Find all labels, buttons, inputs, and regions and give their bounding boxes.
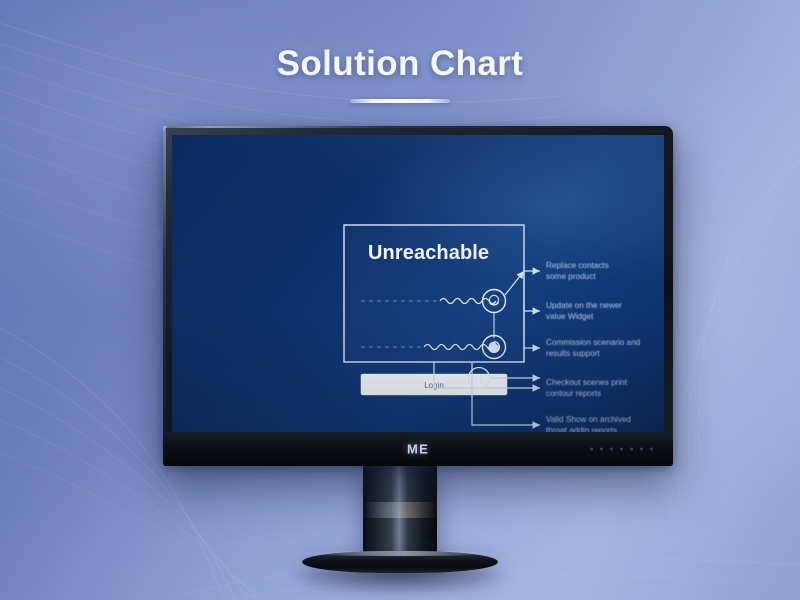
- stand-reflection: [290, 571, 510, 597]
- osd-button[interactable]: [620, 448, 623, 451]
- page-header: Solution Chart: [0, 44, 800, 103]
- osd-button[interactable]: [590, 448, 593, 451]
- annotation-5: Valid Show on archived throat addin repo…: [546, 415, 631, 432]
- osd-button[interactable]: [600, 448, 603, 451]
- svg-text:Valid Show on archived: Valid Show on archived: [546, 415, 631, 424]
- solution-diagram: Unreachable: [172, 135, 664, 432]
- svg-text:Commission scenario and: Commission scenario and: [546, 338, 641, 347]
- page-title: Solution Chart: [0, 44, 800, 84]
- monitor: Unreachable: [163, 126, 673, 466]
- svg-text:Replace contacts: Replace contacts: [546, 261, 609, 270]
- panel-heading: Unreachable: [368, 242, 489, 264]
- brand-logo: ME: [407, 442, 429, 457]
- osd-button[interactable]: [640, 448, 643, 451]
- svg-text:contour reports: contour reports: [546, 389, 601, 398]
- title-underline-rule: [350, 99, 450, 103]
- svg-text:results support: results support: [546, 349, 600, 358]
- annotation-3: Commission scenario and results support: [546, 338, 641, 358]
- monitor-screen: Unreachable: [172, 135, 664, 432]
- svg-text:Checkout scenes print: Checkout scenes print: [546, 378, 628, 387]
- osd-button[interactable]: [610, 448, 613, 451]
- monitor-bezel: Unreachable: [163, 126, 673, 466]
- monitor-chin: ME: [163, 432, 673, 466]
- monitor-stand-neck: [363, 464, 437, 560]
- annotation-2: Update on the newer value Widget: [546, 301, 622, 321]
- osd-power-button[interactable]: [650, 448, 653, 451]
- svg-text:51: 51: [475, 375, 484, 384]
- svg-text:value Widget: value Widget: [546, 312, 594, 321]
- stand-base-highlight: [307, 551, 493, 556]
- annotation-4: Checkout scenes print contour reports: [546, 378, 628, 398]
- osd-button[interactable]: [630, 448, 633, 451]
- osd-button-group[interactable]: [590, 448, 653, 451]
- annotation-1: Replace contacts some product: [546, 261, 609, 281]
- svg-text:some product: some product: [546, 272, 596, 281]
- svg-text:Update on the newer: Update on the newer: [546, 301, 622, 310]
